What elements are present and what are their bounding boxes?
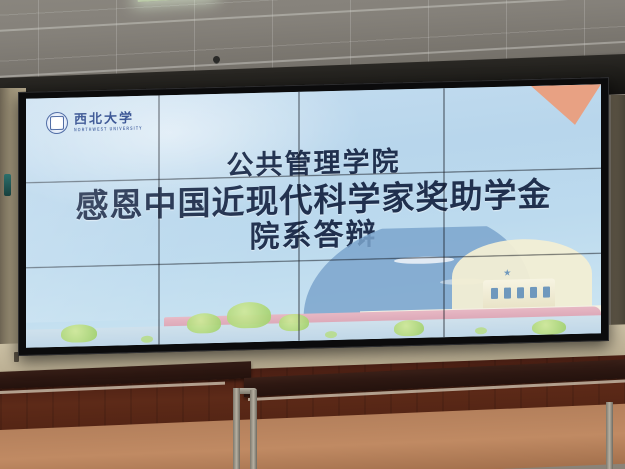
table-leg: [606, 402, 613, 469]
bush-shape: [187, 313, 221, 334]
building-window: [530, 287, 537, 298]
table-leg: [233, 388, 240, 469]
bush-shape: [61, 324, 97, 343]
conference-room-scene: 西北大学 NORTHWEST UNIVERSITY 公共管理学院 感恩中国近现代…: [0, 0, 625, 469]
university-name-cn: 西北大学: [74, 112, 143, 127]
star-icon: ★: [503, 269, 511, 278]
university-logo-text: 西北大学 NORTHWEST UNIVERSITY: [74, 112, 143, 132]
university-seal-icon: [46, 112, 68, 135]
building-window: [543, 287, 550, 298]
campus-illustration: ★: [26, 223, 601, 348]
ceiling-sensor-icon: [213, 56, 220, 63]
bush-shape: [279, 314, 309, 332]
university-logo: 西北大学 NORTHWEST UNIVERSITY: [46, 110, 143, 134]
table-leg: [250, 390, 257, 469]
video-wall-frame[interactable]: 西北大学 NORTHWEST UNIVERSITY 公共管理学院 感恩中国近现代…: [18, 77, 609, 356]
building-window: [491, 288, 498, 299]
bush-shape: [532, 319, 566, 335]
presentation-slide: 西北大学 NORTHWEST UNIVERSITY 公共管理学院 感恩中国近现代…: [26, 84, 601, 348]
bush-shape: [394, 320, 424, 337]
bush-shape: [227, 302, 271, 329]
building-window: [504, 288, 511, 299]
leaf-shape: [475, 327, 487, 334]
building-window: [517, 287, 524, 298]
corner-triangle-decoration: [531, 84, 601, 126]
screen-edge-clip: [4, 174, 11, 196]
video-wall-screen[interactable]: 西北大学 NORTHWEST UNIVERSITY 公共管理学院 感恩中国近现代…: [26, 84, 601, 348]
